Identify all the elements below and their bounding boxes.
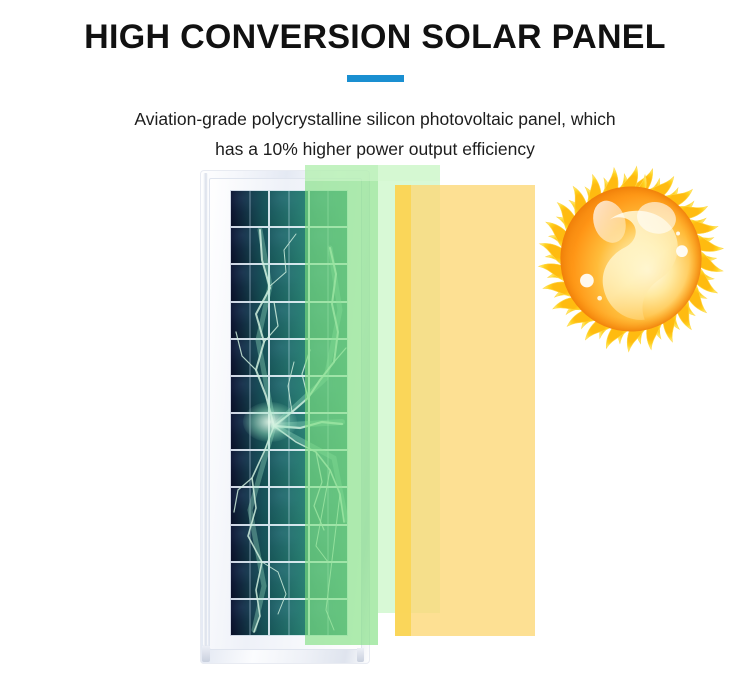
illustration-stage [0,0,750,694]
yellow-light-beam [395,185,535,636]
yellow-light-beam-edge [395,185,411,636]
panel-frame-left-edge [203,173,208,646]
panel-frame-foot-right [357,648,364,662]
plasma-core-glow [243,402,297,442]
green-light-beam-top-cap [305,165,440,181]
sun-icon [533,161,729,357]
panel-frame-foot-left [202,646,210,662]
green-light-beam-bright [305,165,378,645]
